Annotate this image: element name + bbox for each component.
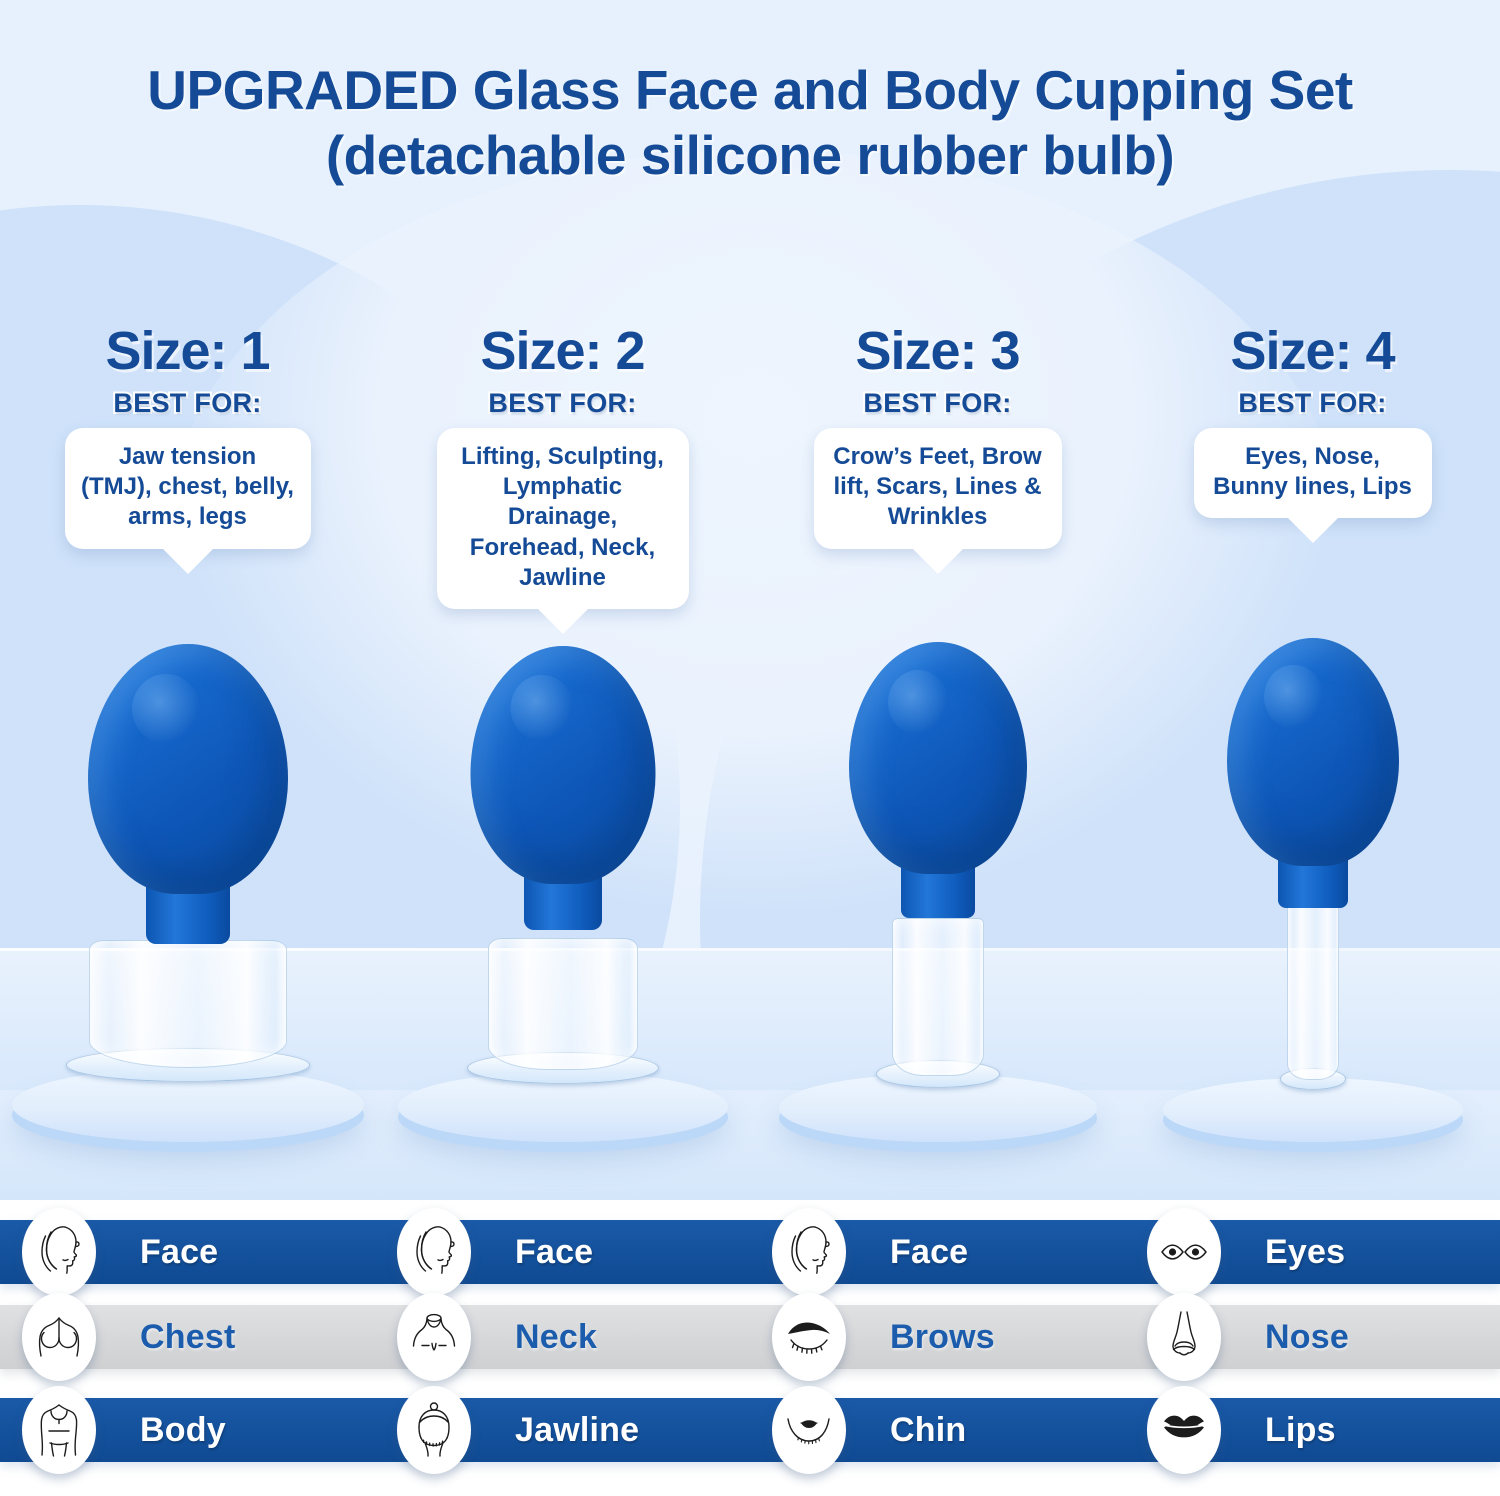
size-label-3: Size: 3 [750,320,1125,382]
silicone-bulb-1 [88,644,288,894]
size-label-4: Size: 4 [1125,320,1500,382]
usage-label: Brows [890,1318,995,1357]
face-profile-icon [772,1208,846,1296]
usage-cell: Nose [1125,1305,1500,1369]
best-for-label-1: BEST FOR: [0,388,375,419]
usage-label: Chest [140,1318,235,1357]
usage-cell: Chest [0,1305,375,1369]
neck-icon [397,1293,471,1381]
body-icon [22,1386,96,1474]
chin-icon [772,1386,846,1474]
usage-cell: Jawline [375,1398,750,1462]
usage-band-2: Chest Neck [0,1305,1500,1369]
title-line-1: UPGRADED Glass Face and Body Cupping Set [147,59,1352,121]
usage-cell: Body [0,1398,375,1462]
best-for-label-2: BEST FOR: [375,388,750,419]
glass-cup-1 [89,940,287,1068]
size-column-1: Size: 1 BEST FOR: Jaw tension (TMJ), che… [0,320,375,1150]
best-for-bubble-4: Eyes, Nose, Bunny lines, Lips [1194,428,1432,518]
usage-band-1: Face Face [0,1220,1500,1284]
best-for-bubble-2: Lifting, Sculpting, Lymphatic Drainage, … [437,428,689,609]
usage-cell: Chin [750,1398,1125,1462]
page-title: UPGRADED Glass Face and Body Cupping Set… [0,58,1500,188]
usage-label: Neck [515,1318,597,1357]
silicone-bulb-4 [1227,638,1399,866]
glass-cup-4 [1287,892,1339,1080]
usage-cell: Face [375,1220,750,1284]
usage-cell: Face [0,1220,375,1284]
face-profile-icon [397,1208,471,1296]
size-column-2: Size: 2 BEST FOR: Lifting, Sculpting, Ly… [375,320,750,1150]
cupping-device-1 [38,622,338,1142]
nose-icon [1147,1293,1221,1381]
size-column-3: Size: 3 BEST FOR: Crow’s Feet, Brow lift… [750,320,1125,1150]
cupping-device-3 [788,622,1088,1142]
glass-cup-2 [488,938,638,1070]
size-label-2: Size: 2 [375,320,750,382]
usage-label: Body [140,1411,226,1450]
usage-cell: Eyes [1125,1220,1500,1284]
usage-label: Face [890,1233,968,1272]
usage-cell: Neck [375,1305,750,1369]
best-for-bubble-1: Jaw tension (TMJ), chest, belly, arms, l… [65,428,311,549]
chest-icon [22,1293,96,1381]
size-column-4: Size: 4 BEST FOR: Eyes, Nose, Bunny line… [1125,320,1500,1150]
usage-cell: Face [750,1220,1125,1284]
cupping-device-2 [413,622,713,1142]
cupping-device-4 [1163,622,1463,1142]
glass-cup-3 [892,918,984,1076]
usage-label: Lips [1265,1411,1336,1450]
usage-cell: Lips [1125,1398,1500,1462]
silicone-bulb-2 [470,646,655,884]
usage-bands: Face Face [0,1200,1500,1496]
face-profile-icon [22,1208,96,1296]
jawline-icon [397,1386,471,1474]
usage-label: Face [515,1233,593,1272]
lips-icon [1147,1386,1221,1474]
size-label-1: Size: 1 [0,320,375,382]
usage-label: Chin [890,1411,966,1450]
brow-icon [772,1293,846,1381]
usage-label: Nose [1265,1318,1349,1357]
usage-label: Face [140,1233,218,1272]
eyes-icon [1147,1208,1221,1296]
product-infographic: UPGRADED Glass Face and Body Cupping Set… [0,0,1500,1496]
title-line-2: (detachable silicone rubber bulb) [0,123,1500,188]
usage-cell: Brows [750,1305,1125,1369]
usage-label: Jawline [515,1411,639,1450]
size-columns: Size: 1 BEST FOR: Jaw tension (TMJ), che… [0,320,1500,1150]
best-for-label-4: BEST FOR: [1125,388,1500,419]
best-for-bubble-3: Crow’s Feet, Brow lift, Scars, Lines & W… [814,428,1062,549]
silicone-bulb-3 [849,642,1027,874]
best-for-label-3: BEST FOR: [750,388,1125,419]
usage-band-3: Body Jawline [0,1398,1500,1462]
usage-label: Eyes [1265,1233,1345,1272]
